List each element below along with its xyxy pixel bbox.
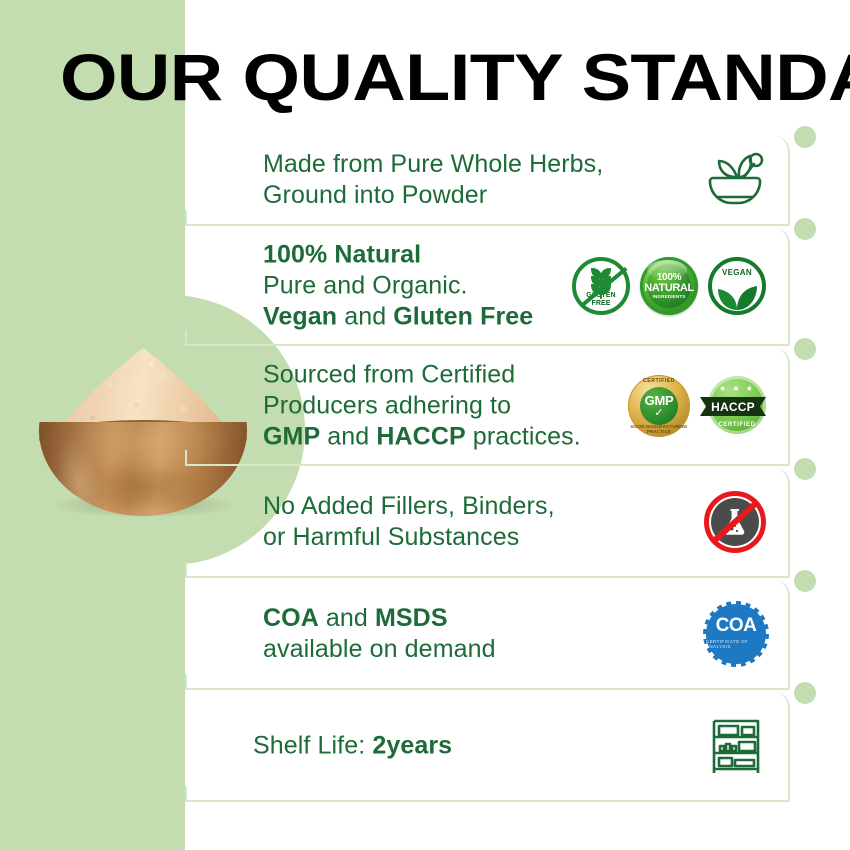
coa-seal-icon: COA CERTIFICATE OF ANALYSIS xyxy=(706,604,766,664)
text-segment: Producers adhering to xyxy=(263,392,511,420)
mortar-and-pestle-icon xyxy=(704,149,766,211)
list-item-icons: GLUTEN FREE 100% NATURAL INGREDIENTS VEG… xyxy=(572,257,766,315)
gmp-check-icon: ✓ xyxy=(654,408,663,418)
row-dot-marker xyxy=(794,570,816,592)
haccp-stars-icon: ★ ★ ★ xyxy=(708,384,766,393)
text-line: Sourced from Certified xyxy=(263,360,581,391)
list-item-icons: CERTIFIED GMP ✓ GOOD MANUFACTURING PRACT… xyxy=(628,375,766,437)
haccp-certified-badge-icon: ★ ★ ★ HACCP CERTIFIED xyxy=(700,375,766,437)
gmp-top-label: CERTIFIED xyxy=(628,378,690,384)
list-item-icons xyxy=(704,491,766,553)
list-item-text: Made from Pure Whole Herbs, Ground into … xyxy=(263,149,603,211)
text-line: COA and MSDS xyxy=(263,603,496,634)
row-dot-marker xyxy=(794,682,816,704)
text-segment: Pure and Organic. xyxy=(263,272,468,300)
list-item: 100% Natural Pure and Organic. Vegan and… xyxy=(185,228,790,346)
list-item-icons xyxy=(706,715,766,777)
text-line: 100% Natural xyxy=(263,240,533,271)
vegan-badge-icon: VEGAN xyxy=(708,257,766,315)
text-line: Ground into Powder xyxy=(263,180,603,211)
text-segment: and xyxy=(337,303,393,331)
gmp-core: GMP ✓ xyxy=(640,387,678,425)
text-segment: GMP xyxy=(263,423,320,451)
text-segment: 100% Natural xyxy=(263,241,421,269)
haccp-ribbon: HACCP xyxy=(700,397,766,416)
text-line: or Harmful Substances xyxy=(263,522,555,553)
row-left-tick xyxy=(185,330,187,346)
text-segment: and xyxy=(320,423,376,451)
text-line: Made from Pure Whole Herbs, xyxy=(263,149,603,180)
row-left-tick xyxy=(185,210,187,226)
row-dot-marker xyxy=(794,218,816,240)
natural-ingredients-badge-icon: 100% NATURAL INGREDIENTS xyxy=(640,257,698,315)
list-item-text: COA and MSDS available on demand xyxy=(263,603,496,665)
list-item: COA and MSDS available on demand COA CER… xyxy=(185,580,790,690)
list-item-icons: COA CERTIFICATE OF ANALYSIS xyxy=(706,604,766,664)
text-line: No Added Fillers, Binders, xyxy=(263,491,555,522)
text-line: GMP and HACCP practices. xyxy=(263,422,581,453)
list-item-text: No Added Fillers, Binders, or Harmful Su… xyxy=(263,491,555,553)
storage-shelf-icon xyxy=(706,715,766,777)
list-item: Sourced from Certified Producers adherin… xyxy=(185,348,790,466)
list-item: Shelf Life: 2years xyxy=(185,692,790,802)
text-segment: Made from Pure Whole Herbs, xyxy=(263,150,603,178)
haccp-bottom-label: CERTIFIED xyxy=(708,422,766,428)
row-left-tick xyxy=(185,562,187,578)
text-segment: MSDS xyxy=(375,604,448,632)
row-dot-marker xyxy=(794,126,816,148)
vegan-label: VEGAN xyxy=(722,268,752,277)
natural-line-2: NATURAL xyxy=(644,283,694,294)
text-segment: practices. xyxy=(466,423,581,451)
text-line: available on demand xyxy=(263,634,496,665)
text-segment: and xyxy=(319,604,375,632)
list-item-icons xyxy=(704,149,766,211)
list-item: Made from Pure Whole Herbs, Ground into … xyxy=(185,136,790,226)
text-segment: Shelf Life: xyxy=(253,732,372,760)
coa-disc: COA CERTIFICATE OF ANALYSIS xyxy=(706,604,766,664)
quality-standards-infographic: OUR QUALITY STANDARDS Made from Pure Who… xyxy=(0,0,850,850)
row-dot-marker xyxy=(794,338,816,360)
list-item-text: Sourced from Certified Producers adherin… xyxy=(263,360,581,453)
text-segment: available on demand xyxy=(263,635,496,663)
no-chemicals-icon xyxy=(704,491,766,553)
text-line: Pure and Organic. xyxy=(263,271,533,302)
standards-list: Made from Pure Whole Herbs, Ground into … xyxy=(0,0,850,850)
text-segment: Sourced from Certified xyxy=(263,361,515,389)
natural-line-3: INGREDIENTS xyxy=(653,295,686,300)
list-item-text: Shelf Life: 2years xyxy=(253,731,452,762)
gmp-certified-badge-icon: CERTIFIED GMP ✓ GOOD MANUFACTURING PRACT… xyxy=(628,375,690,437)
text-segment: HACCP xyxy=(376,423,465,451)
text-segment: Gluten Free xyxy=(393,303,533,331)
text-line: Vegan and Gluten Free xyxy=(263,302,533,333)
coa-sub-label: CERTIFICATE OF ANALYSIS xyxy=(706,639,766,649)
row-left-tick xyxy=(185,674,187,690)
row-left-tick xyxy=(185,786,187,802)
text-line: Producers adhering to xyxy=(263,391,581,422)
page-title: OUR QUALITY STANDARDS xyxy=(60,44,850,110)
text-segment: or Harmful Substances xyxy=(263,523,519,551)
gmp-center-label: GMP xyxy=(645,395,674,407)
text-segment: COA xyxy=(263,604,319,632)
row-left-tick xyxy=(185,450,187,466)
gmp-bottom-label: GOOD MANUFACTURING PRACTICE xyxy=(628,424,690,434)
list-item-text: 100% Natural Pure and Organic. Vegan and… xyxy=(263,240,533,333)
text-segment: Vegan xyxy=(263,303,337,331)
text-segment: No Added Fillers, Binders, xyxy=(263,492,555,520)
coa-center-label: COA xyxy=(716,615,757,637)
gluten-free-badge-icon: GLUTEN FREE xyxy=(572,257,630,315)
text-line: Shelf Life: 2years xyxy=(253,731,452,762)
haccp-center-label: HACCP xyxy=(711,400,755,414)
natural-badge-inner: 100% NATURAL INGREDIENTS xyxy=(647,264,691,308)
text-segment: 2years xyxy=(372,732,452,760)
list-item: No Added Fillers, Binders, or Harmful Su… xyxy=(185,468,790,578)
text-segment: Ground into Powder xyxy=(263,181,487,209)
row-dot-marker xyxy=(794,458,816,480)
